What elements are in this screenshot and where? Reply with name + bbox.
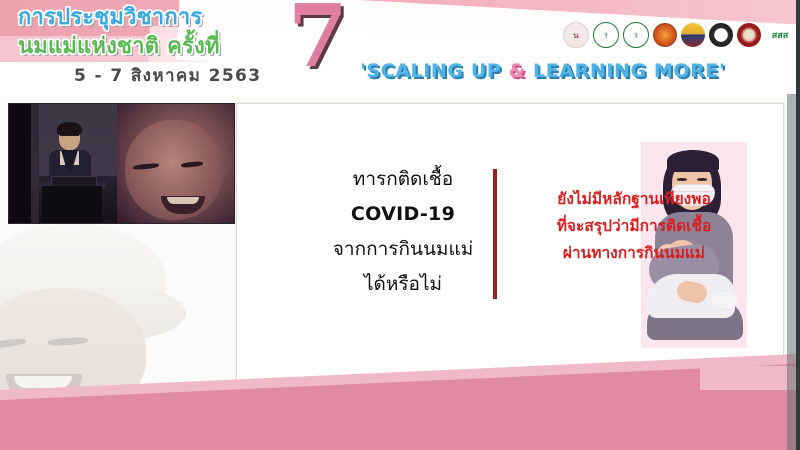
edition-number: 7 xyxy=(288,0,348,80)
red-vertical-divider xyxy=(493,169,497,299)
answer-line-1: ยังไม่มีหลักฐานเพียงพอ xyxy=(507,186,761,213)
conference-title: การประชุมวิชาการ นมแม่แห่งชาติ ครั้งที่ xyxy=(18,3,283,61)
tagline-part2: LEARNING MORE' xyxy=(526,60,726,82)
question-line-3: จากการกินนมแม่ xyxy=(323,232,483,267)
right-edge-shadow xyxy=(787,94,796,450)
thaihealth-sss-logo: สสส xyxy=(765,24,795,46)
answer-line-3: ผ่านทางการกินนมแม่ xyxy=(507,240,761,267)
university-seal-logo xyxy=(709,23,733,47)
logo-glyph-8: สสส xyxy=(772,28,788,42)
video-curtain-left xyxy=(9,104,31,223)
podium xyxy=(42,186,102,223)
mother-eye-left xyxy=(677,178,687,181)
garuda-emblem-logo xyxy=(681,23,705,47)
mother-foot xyxy=(711,292,737,308)
tagline-ampersand: & xyxy=(509,60,526,82)
tagline-part1: 'SCALING UP xyxy=(360,60,509,82)
mother-eye-right xyxy=(697,178,707,181)
video-baby-teeth xyxy=(167,197,199,204)
mother-hair-front xyxy=(667,150,719,172)
webinar-video-feed[interactable] xyxy=(8,103,235,224)
speaker-hair xyxy=(57,122,82,136)
speaker-glasses xyxy=(60,135,79,140)
question-line-2-covid: COVID-19 xyxy=(323,197,483,232)
conference-title-line1: การประชุมวิชาการ xyxy=(18,5,202,30)
question-line-1: ทารกติดเชื้อ xyxy=(323,162,483,197)
conference-tagline: 'SCALING UP & LEARNING MORE' xyxy=(360,60,725,82)
question-text-block: ทารกติดเชื้อ COVID-19 จากการกินนมแม่ ได้… xyxy=(323,162,483,302)
royal-thai-emblem-logo xyxy=(653,23,677,47)
conference-header-banner: การประชุมวิชาการ นมแม่แห่งชาติ ครั้งที่ … xyxy=(0,0,800,95)
right-band-dark-pink xyxy=(700,390,800,450)
conference-title-line2: นมแม่แห่งชาติ ครั้งที่ xyxy=(18,32,283,61)
sponsor-logo-row: น ⚕ ⚕ สสส xyxy=(563,22,795,48)
question-line-4: ได้หรือไม่ xyxy=(323,267,483,302)
pediatric-society-logo xyxy=(737,23,761,47)
answer-text-block: ยังไม่มีหลักฐานเพียงพอ ที่จะสรุปว่ามีการ… xyxy=(507,186,761,267)
department-health-logo: ⚕ xyxy=(623,22,649,48)
conference-date: 5 - 7 สิงหาคม 2563 xyxy=(74,62,262,89)
breastfeeding-foundation-logo: น xyxy=(563,22,589,48)
child-teeth xyxy=(14,376,72,388)
logo-glyph-1: น xyxy=(573,29,578,42)
logo-glyph-3: ⚕ xyxy=(634,31,638,40)
ministry-public-health-logo: ⚕ xyxy=(593,22,619,48)
right-edge-border xyxy=(796,0,800,450)
video-curtain-edge xyxy=(31,104,39,223)
answer-line-2: ที่จะสรุปว่ามีการติดเชื้อ xyxy=(507,213,761,240)
logo-glyph-2: ⚕ xyxy=(604,31,608,40)
slide-presentation-screen: การประชุมวิชาการ นมแม่แห่งชาติ ครั้งที่ … xyxy=(0,0,800,450)
